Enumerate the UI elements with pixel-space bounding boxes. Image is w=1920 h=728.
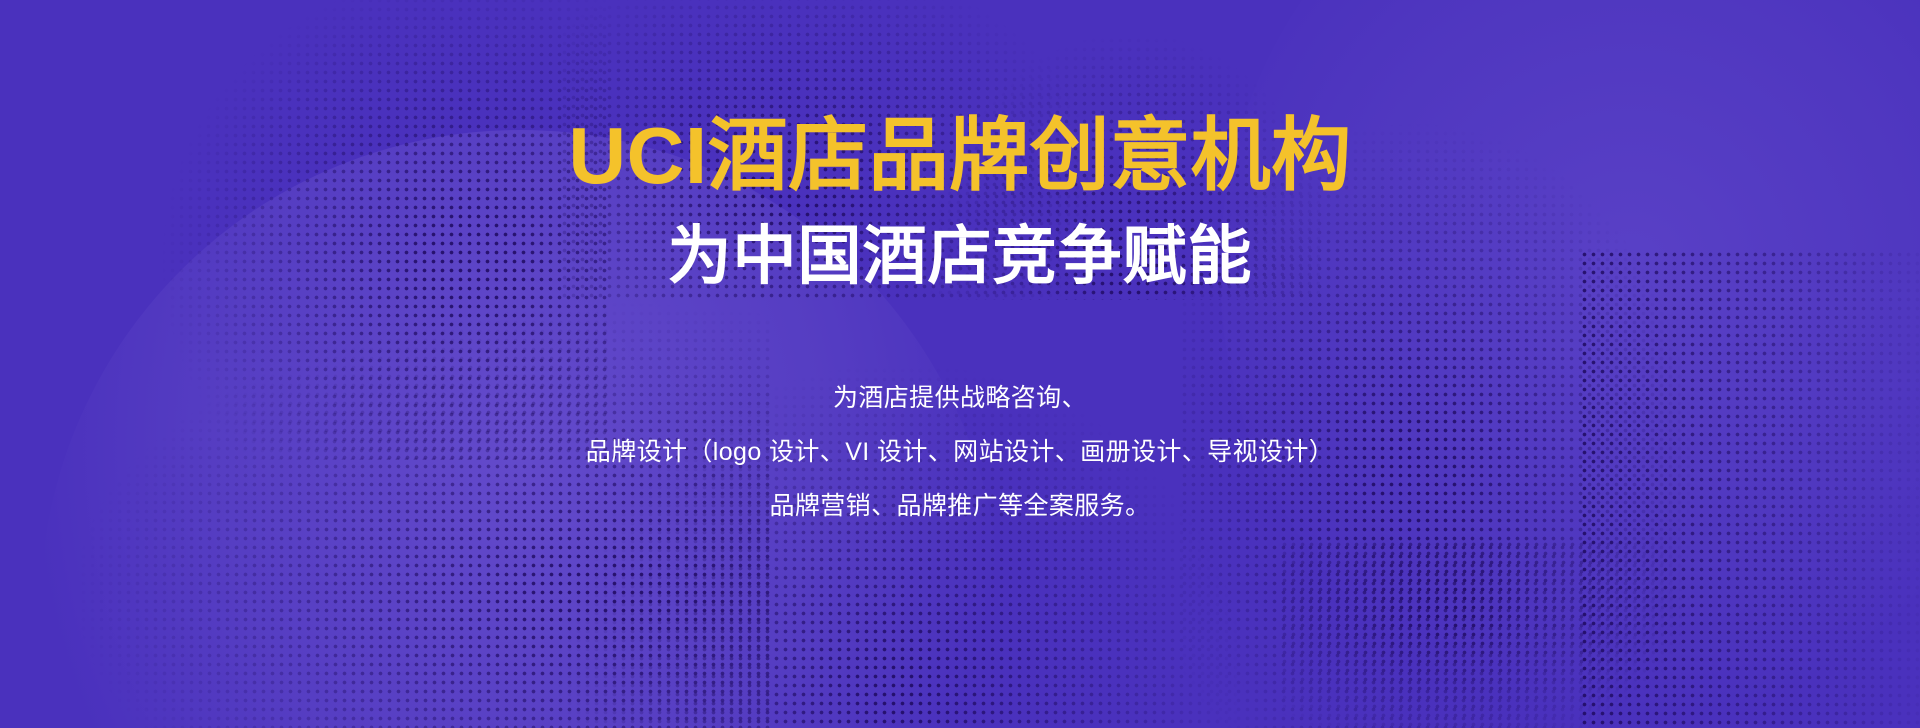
hero-headline: UCI酒店品牌创意机构: [568, 116, 1351, 196]
hero-content: UCI酒店品牌创意机构 为中国酒店竞争赋能 为酒店提供战略咨询、 品牌设计（lo…: [0, 0, 1920, 728]
description-line: 品牌设计（logo 设计、VI 设计、网站设计、画册设计、导视设计）: [586, 440, 1334, 465]
description-line: 品牌营销、品牌推广等全案服务。: [586, 494, 1334, 519]
hero-subheadline: 为中国酒店竞争赋能: [668, 224, 1253, 288]
description-line: 为酒店提供战略咨询、: [586, 386, 1334, 411]
hero-description: 为酒店提供战略咨询、 品牌设计（logo 设计、VI 设计、网站设计、画册设计、…: [586, 386, 1334, 519]
hero-banner: UCI酒店品牌创意机构 为中国酒店竞争赋能 为酒店提供战略咨询、 品牌设计（lo…: [0, 0, 1920, 728]
